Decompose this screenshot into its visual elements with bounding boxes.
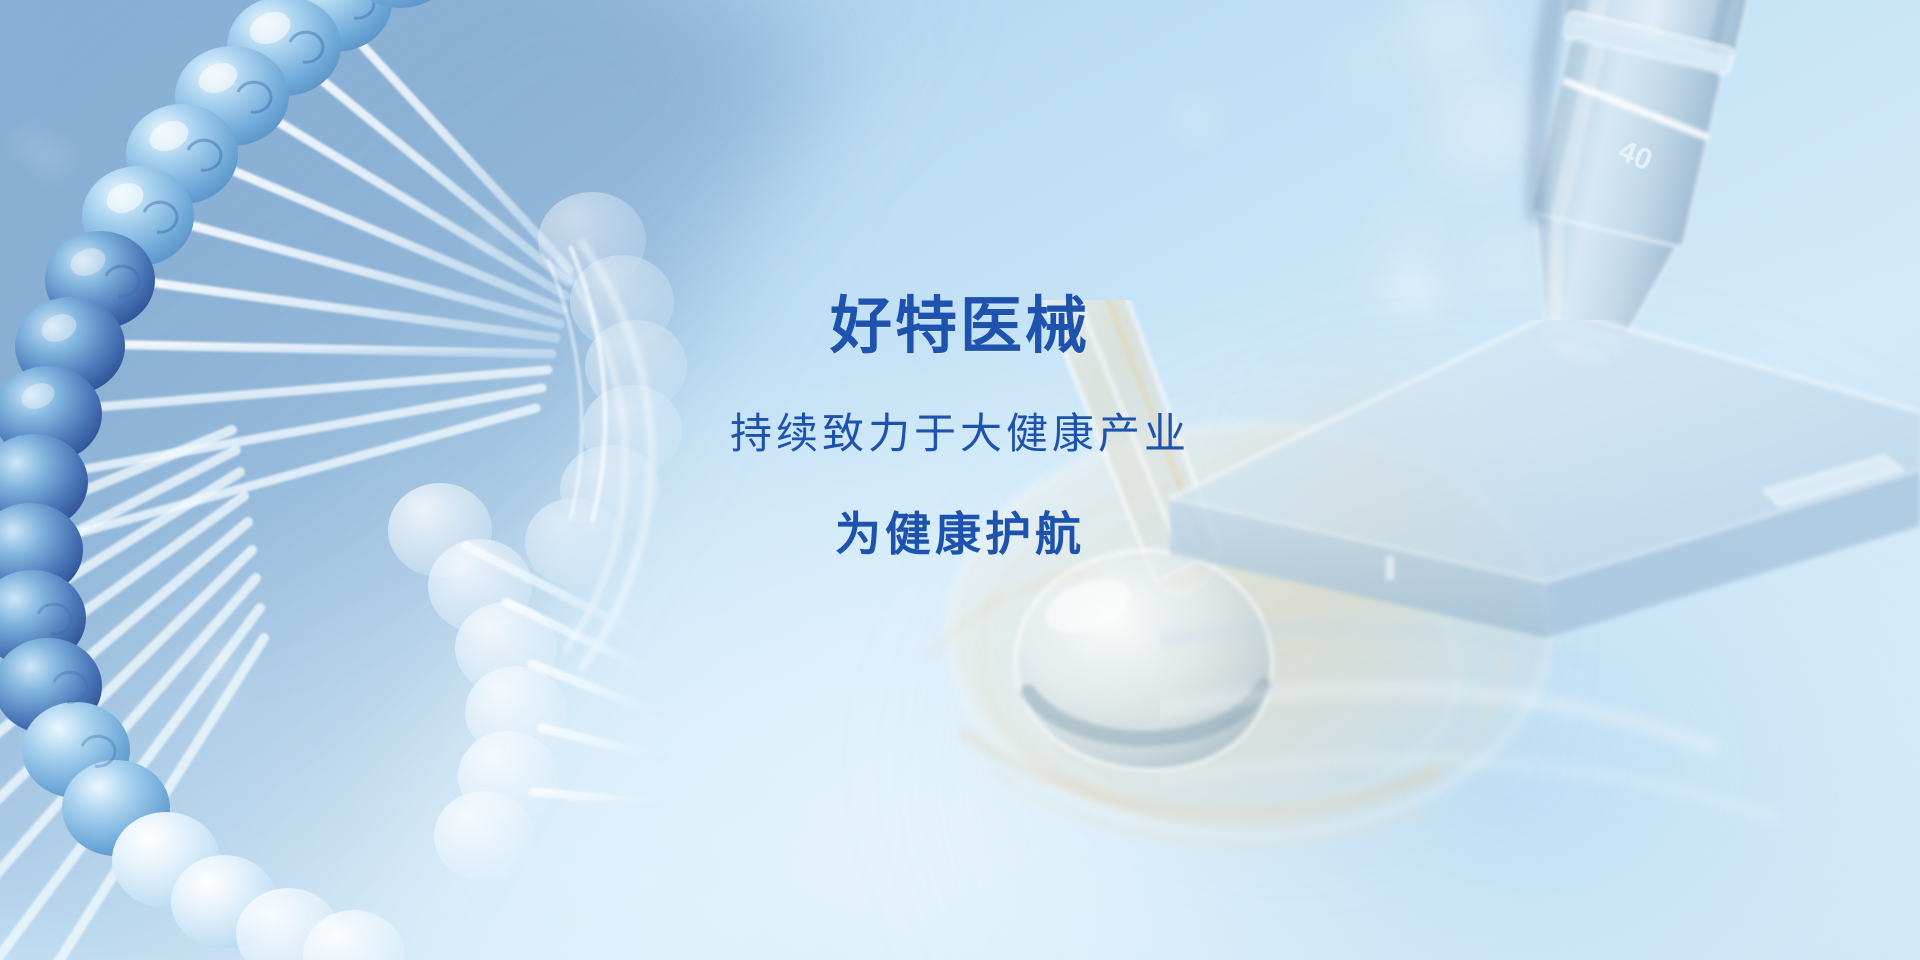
hero-banner: 40 bbox=[0, 0, 1920, 960]
hero-subtitle: 持续致力于大健康产业 bbox=[730, 413, 1190, 455]
hero-copy: 好特医械 持续致力于大健康产业 为健康护航 bbox=[0, 296, 1920, 557]
page-title: 好特医械 bbox=[830, 296, 1090, 358]
hero-tagline: 为健康护航 bbox=[835, 511, 1085, 557]
